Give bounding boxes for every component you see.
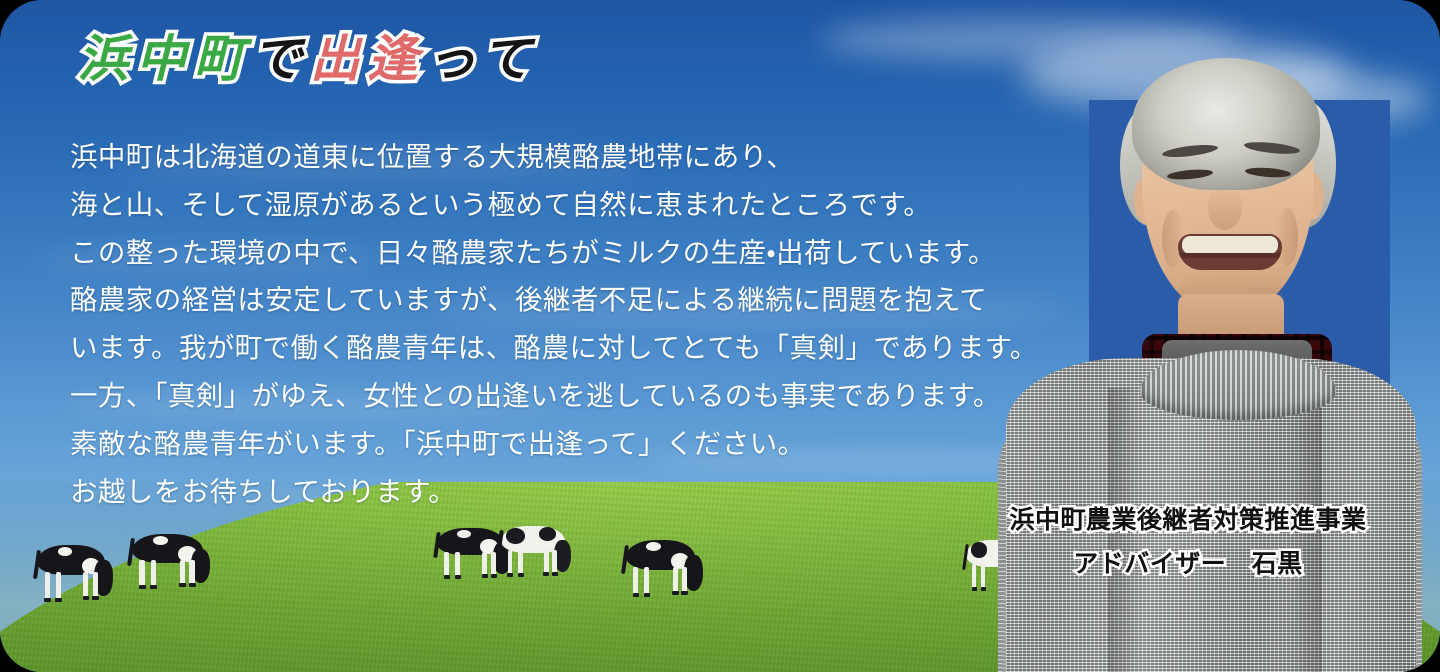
hair-top [1132,58,1320,190]
cow-patch [457,530,471,538]
cow-hoof [444,575,450,579]
cow-2 [124,534,220,590]
cow-1 [30,545,122,603]
cow-hoof [44,598,50,602]
cow-hoof [83,596,89,600]
cow-4 [494,526,580,578]
caption-line-2: アドバイザー 石黒 [978,542,1398,586]
cow-hoof [633,593,640,597]
cow-hoof [150,585,157,589]
cow-hoof [139,585,146,589]
cow-hoof [482,574,488,578]
body-line-2: 海と山、そして湿原があるという極めて自然に恵まれたところです。 [70,181,1070,229]
cow-hoof [55,598,61,602]
cow-patch [58,547,73,556]
page-title: 浜中町で出逢って [78,34,540,84]
cow-hoof [507,573,513,577]
cow-hoof [179,583,186,587]
smiling-mouth [1178,234,1282,270]
cow-hoof [972,587,977,591]
body-copy: 浜中町は北海道の道東に位置する大規模酪農地帯にあり、海と山、そして湿原があるとい… [70,133,1070,515]
cow-hoof [189,583,196,587]
title-segment-1: で [252,31,310,87]
title-segment-3: って [426,31,540,87]
cow-hoof [981,587,986,591]
cow-hoof [552,572,558,576]
cow-5 [618,540,712,598]
body-line-4: 酪農家の経営は安定していますが、後継者不足による継続に問題を抱えて [70,276,1070,324]
title-segment-0: 浜中町 [78,31,252,87]
cow-patch [153,536,168,545]
cow-hoof [455,575,461,579]
cow-patch [506,528,525,544]
lip-line [1178,253,1282,258]
cow-hoof [92,596,98,600]
body-line-7: 素敵な酪農青年がいます。「浜中町で出逢って」ください。 [70,420,1070,468]
body-line-8: お越しをお待ちしております。 [70,468,1070,516]
title-segment-2: 出逢 [310,31,426,87]
body-line-1: 浜中町は北海道の道東に位置する大規模酪農地帯にあり、 [70,133,1070,181]
body-line-5: います。我が町で働く酪農青年は、酪農に対してとても「真剣」であります。 [70,324,1070,372]
cow-hoof [681,591,688,595]
teeth [1182,236,1278,254]
cow-patch [646,542,661,551]
advisor-caption: 浜中町農業後継者対策推進事業アドバイザー 石黒 [978,498,1398,586]
poster-canvas: 浜中町で出逢って 浜中町は北海道の道東に位置する大規模酪農地帯にあり、海と山、そ… [0,0,1440,672]
cow-patch [539,527,556,541]
body-line-3: この整った環境の中で、日々酪農家たちがミルクの生産・出荷しています。 [70,229,1070,277]
cow-hoof [543,572,549,576]
caption-line-1: 浜中町農業後継者対策推進事業 [978,498,1398,542]
cow-hoof [672,591,679,595]
nose [1208,186,1242,230]
body-line-6: 一方、「真剣」がゆえ、女性との出逢いを逃しているのも事実であります。 [70,372,1070,420]
cow-hoof [518,573,524,577]
cow-hoof [644,593,651,597]
